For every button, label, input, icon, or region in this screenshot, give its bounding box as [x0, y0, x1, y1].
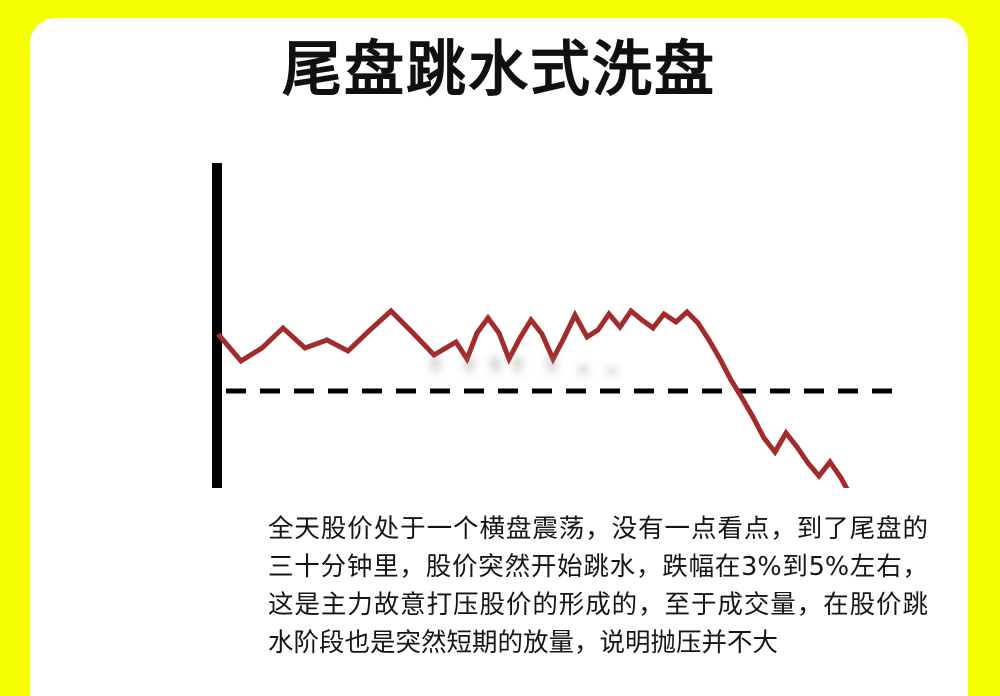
white-card: 尾盘跳水式洗盘 全天股价处于一个横盘震荡，没有一点看点，到了尾盘的 — [30, 18, 968, 696]
vertical-axis-line — [212, 163, 222, 488]
poster-frame: 尾盘跳水式洗盘 全天股价处于一个横盘震荡，没有一点看点，到了尾盘的 — [0, 0, 1000, 696]
chart-canvas — [30, 128, 968, 488]
price-line-series — [218, 311, 852, 488]
description-paragraph: 全天股价处于一个横盘震荡，没有一点看点，到了尾盘的三十分钟里，股价突然开始跳水，… — [268, 510, 928, 662]
page-title: 尾盘跳水式洗盘 — [30, 32, 968, 108]
price-chart — [30, 128, 968, 488]
